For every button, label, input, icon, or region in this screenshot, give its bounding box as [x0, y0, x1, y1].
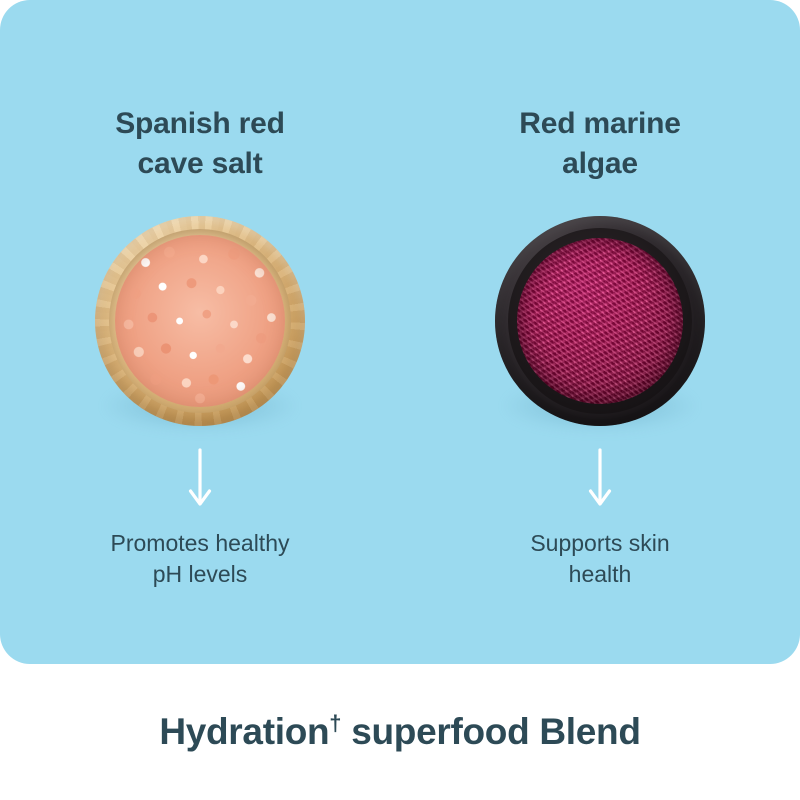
bowl-image-algae [495, 216, 705, 426]
product-ingredient-graphic: Spanish red cave salt Promotes healthy p [0, 0, 800, 800]
arrow-down-icon [185, 448, 215, 510]
ingredient-benefit-salt-line1: Promotes healthy [75, 528, 325, 559]
ingredient-benefit-salt: Promotes healthy pH levels [75, 528, 325, 590]
dark-bowl [495, 216, 705, 426]
ingredient-title-salt-line2: cave salt [75, 144, 325, 184]
footer-bar: Hydration† superfood Blend [0, 664, 800, 800]
blend-title-after: superfood Blend [351, 711, 640, 752]
blend-title: Hydration† superfood Blend [159, 711, 640, 753]
ingredient-benefit-salt-line2: pH levels [75, 559, 325, 590]
dark-bowl-interior [508, 228, 692, 414]
dagger-symbol: † [329, 711, 341, 736]
wooden-bowl [95, 216, 305, 426]
ingredient-title-algae: Red marine algae [475, 104, 725, 184]
ingredient-columns: Spanish red cave salt Promotes healthy p [0, 0, 800, 664]
ingredient-title-algae-line1: Red marine [475, 104, 725, 144]
blend-title-before: Hydration [159, 711, 329, 752]
wooden-bowl-interior [109, 229, 291, 413]
arrow-down-icon [585, 448, 615, 510]
pink-salt-crystals [115, 235, 285, 407]
ingredient-column-salt: Spanish red cave salt Promotes healthy p [0, 0, 400, 664]
ingredient-title-salt-line1: Spanish red [75, 104, 325, 144]
ingredient-title-salt: Spanish red cave salt [75, 104, 325, 184]
ingredient-column-algae: Red marine algae Supports skin health [400, 0, 800, 664]
bowl-image-salt [95, 216, 305, 426]
ingredient-benefit-algae: Supports skin health [475, 528, 725, 590]
blend-title-space [341, 711, 351, 752]
red-marine-algae-strands [517, 238, 683, 404]
ingredient-benefit-algae-line2: health [475, 559, 725, 590]
ingredient-title-algae-line2: algae [475, 144, 725, 184]
ingredient-benefit-algae-line1: Supports skin [475, 528, 725, 559]
